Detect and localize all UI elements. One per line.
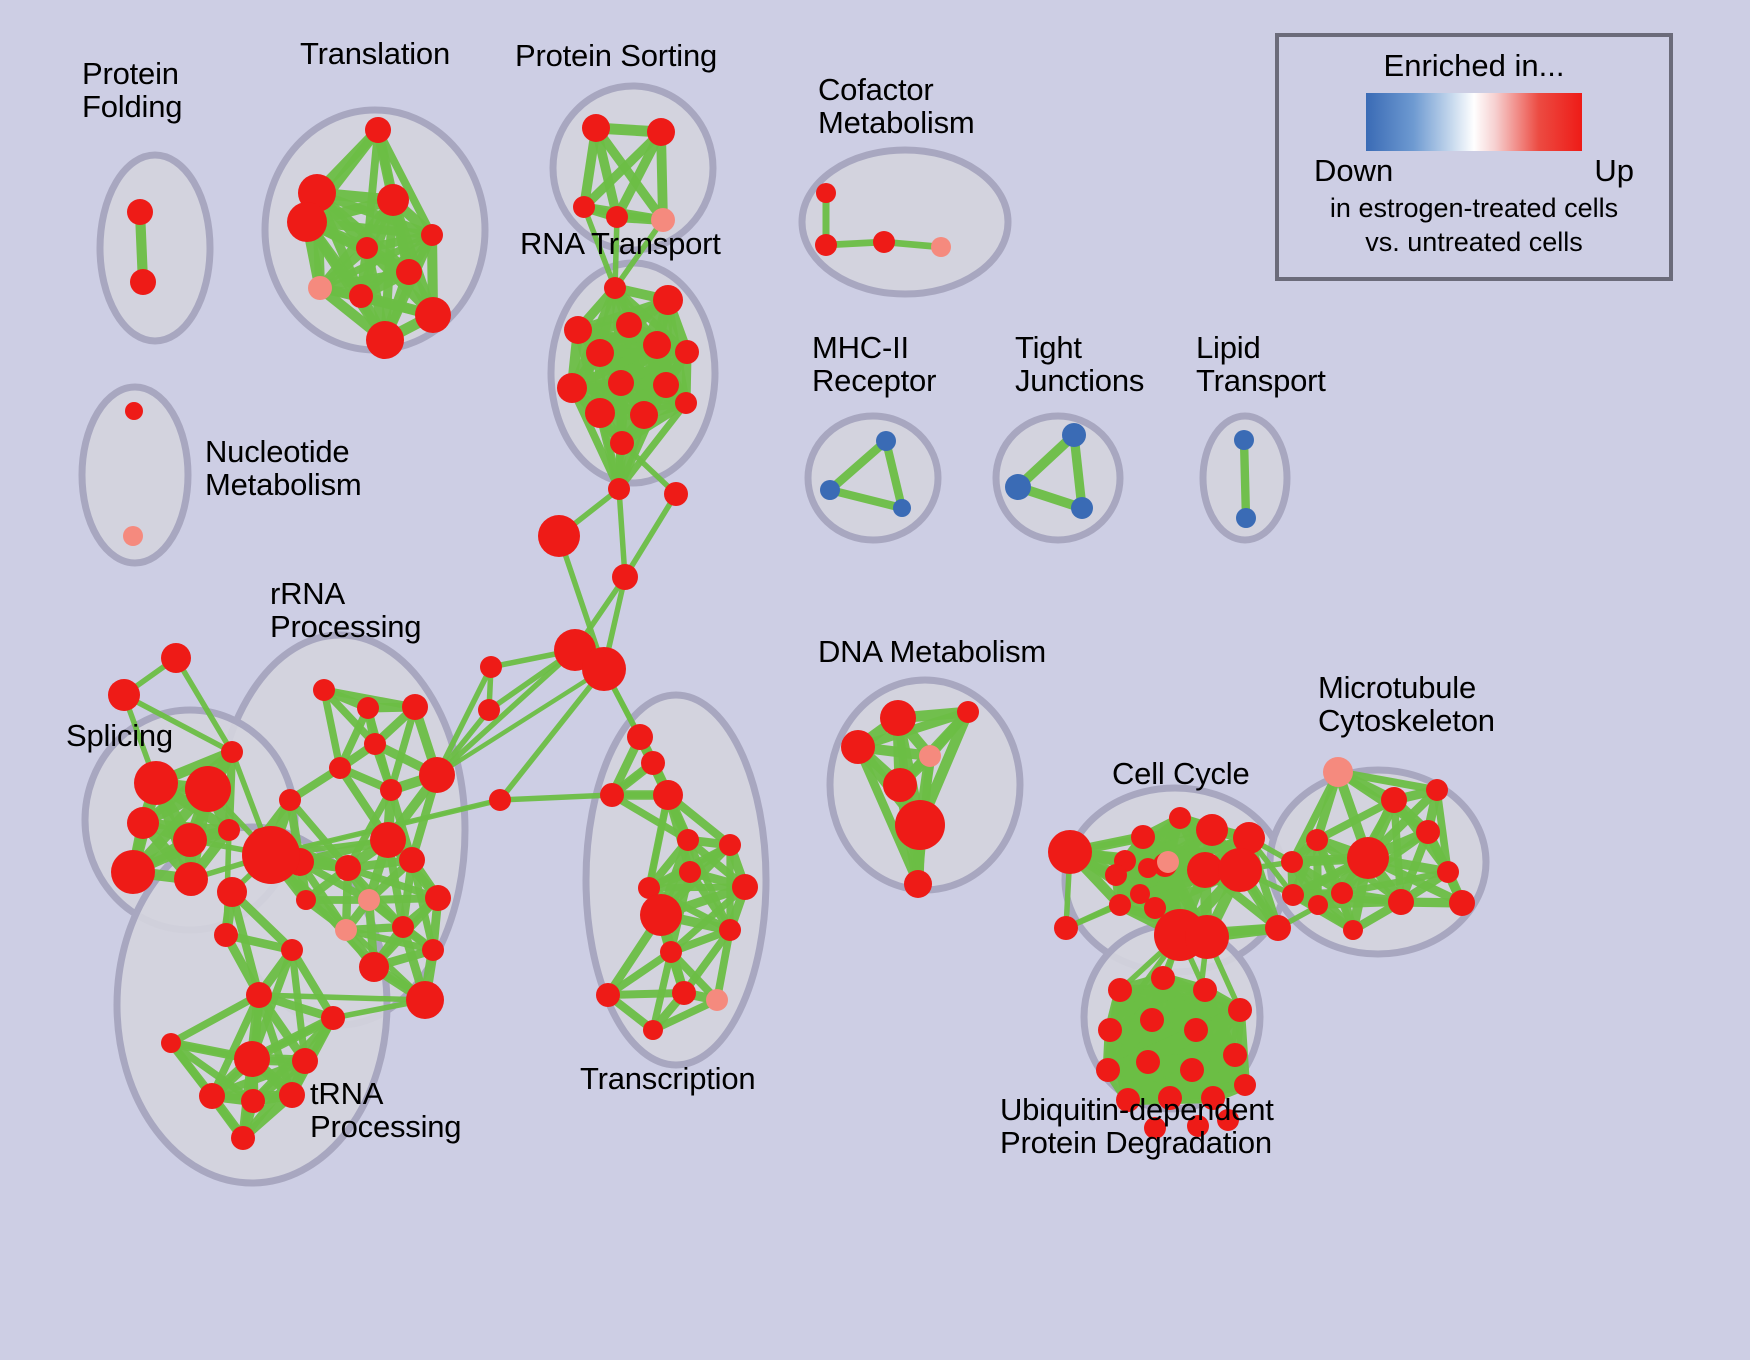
network-node[interactable] xyxy=(1071,497,1093,519)
network-node[interactable] xyxy=(214,923,238,947)
cluster-hull-protein-folding xyxy=(100,155,210,341)
network-node[interactable] xyxy=(246,982,272,1008)
network-node[interactable] xyxy=(279,1082,305,1108)
network-node[interactable] xyxy=(281,939,303,961)
network-node[interactable] xyxy=(356,237,378,259)
network-node[interactable] xyxy=(357,697,379,719)
network-node[interactable] xyxy=(1196,814,1228,846)
network-node[interactable] xyxy=(1234,430,1254,450)
network-node[interactable] xyxy=(125,402,143,420)
network-node[interactable] xyxy=(627,724,653,750)
cluster-hull-cofactor-metabolism xyxy=(802,150,1008,294)
network-node[interactable] xyxy=(329,757,351,779)
enrichment-map-figure: Protein FoldingTranslationProtein Sortin… xyxy=(0,0,1750,1360)
network-node[interactable] xyxy=(1218,848,1262,892)
network-node[interactable] xyxy=(895,800,945,850)
network-node[interactable] xyxy=(1223,1043,1247,1067)
network-node[interactable] xyxy=(904,870,932,898)
network-node[interactable] xyxy=(1306,829,1328,851)
legend-box: Enriched in... Down Up in estrogen-treat… xyxy=(1275,33,1673,281)
network-node[interactable] xyxy=(396,259,422,285)
network-node[interactable] xyxy=(218,819,240,841)
network-node[interactable] xyxy=(630,401,658,429)
network-node[interactable] xyxy=(931,237,951,257)
network-node[interactable] xyxy=(406,981,444,1019)
network-node[interactable] xyxy=(1151,966,1175,990)
network-node[interactable] xyxy=(557,373,587,403)
network-node[interactable] xyxy=(185,766,231,812)
network-node[interactable] xyxy=(816,183,836,203)
cluster-label-rrna-processing: rRNA Processing xyxy=(270,578,421,644)
network-node[interactable] xyxy=(1437,861,1459,883)
network-node[interactable] xyxy=(719,919,741,941)
network-node[interactable] xyxy=(402,694,428,720)
network-node[interactable] xyxy=(672,981,696,1005)
network-node[interactable] xyxy=(815,234,837,256)
network-node[interactable] xyxy=(608,478,630,500)
network-node[interactable] xyxy=(679,861,701,883)
network-node[interactable] xyxy=(425,885,451,911)
network-node[interactable] xyxy=(335,919,357,941)
network-node[interactable] xyxy=(1136,1050,1160,1074)
network-node[interactable] xyxy=(489,789,511,811)
network-node[interactable] xyxy=(127,199,153,225)
cluster-label-transcription: Transcription xyxy=(580,1063,755,1096)
network-node[interactable] xyxy=(1180,1058,1204,1082)
cluster-label-ubiquitin-protein-degradation: Ubiquitin-dependent Protein Degradation xyxy=(1000,1094,1274,1160)
network-node[interactable] xyxy=(480,656,502,678)
network-node[interactable] xyxy=(108,679,140,711)
network-node[interactable] xyxy=(647,118,675,146)
cluster-label-nucleotide-metabolism: Nucleotide Metabolism xyxy=(205,436,362,502)
network-node[interactable] xyxy=(1308,895,1328,915)
network-node[interactable] xyxy=(612,564,638,590)
network-node[interactable] xyxy=(564,316,592,344)
network-node[interactable] xyxy=(1062,423,1086,447)
network-node[interactable] xyxy=(957,701,979,723)
network-node[interactable] xyxy=(653,285,683,315)
network-node[interactable] xyxy=(610,431,634,455)
network-node[interactable] xyxy=(538,515,580,557)
network-node[interactable] xyxy=(1105,864,1127,886)
network-node[interactable] xyxy=(1343,920,1363,940)
network-node[interactable] xyxy=(1281,851,1303,873)
network-node[interactable] xyxy=(1131,825,1155,849)
network-node[interactable] xyxy=(1109,894,1131,916)
network-node[interactable] xyxy=(364,733,386,755)
cluster-label-mhc-ii-receptor: MHC-II Receptor xyxy=(812,332,936,398)
network-node[interactable] xyxy=(161,1033,181,1053)
network-node[interactable] xyxy=(608,370,634,396)
network-node[interactable] xyxy=(335,855,361,881)
cluster-label-microtubule-cytoskeleton: Microtubule Cytoskeleton xyxy=(1318,672,1495,738)
network-node[interactable] xyxy=(161,643,191,673)
network-node[interactable] xyxy=(296,890,316,910)
network-node[interactable] xyxy=(173,823,207,857)
legend-title: Enriched in... xyxy=(1279,48,1669,84)
cluster-label-protein-sorting: Protein Sorting xyxy=(515,40,717,73)
cluster-label-trna-processing: tRNA Processing xyxy=(310,1078,461,1144)
network-node[interactable] xyxy=(596,983,620,1007)
network-node[interactable] xyxy=(706,989,728,1011)
network-node[interactable] xyxy=(664,482,688,506)
network-node[interactable] xyxy=(1416,820,1440,844)
network-node[interactable] xyxy=(1138,858,1158,878)
network-node[interactable] xyxy=(127,807,159,839)
network-node[interactable] xyxy=(1193,978,1217,1002)
network-node[interactable] xyxy=(241,1089,265,1113)
network-node[interactable] xyxy=(1169,807,1191,829)
network-node[interactable] xyxy=(234,1041,270,1077)
network-node[interactable] xyxy=(585,398,615,428)
network-node[interactable] xyxy=(1426,779,1448,801)
network-node[interactable] xyxy=(478,699,500,721)
network-node[interactable] xyxy=(321,1006,345,1030)
network-node[interactable] xyxy=(199,1083,225,1109)
network-node[interactable] xyxy=(1282,884,1304,906)
network-node[interactable] xyxy=(675,340,699,364)
network-node[interactable] xyxy=(1140,1008,1164,1032)
network-node[interactable] xyxy=(883,768,917,802)
cluster-label-cofactor-metabolism: Cofactor Metabolism xyxy=(818,74,975,140)
legend-low-label: Down xyxy=(1314,153,1393,189)
cluster-label-tight-junctions: Tight Junctions xyxy=(1015,332,1144,398)
network-node[interactable] xyxy=(919,745,941,767)
network-edge xyxy=(1244,440,1246,518)
network-node[interactable] xyxy=(292,1048,318,1074)
network-node[interactable] xyxy=(370,822,406,858)
network-node[interactable] xyxy=(600,783,624,807)
network-node[interactable] xyxy=(380,779,402,801)
network-node[interactable] xyxy=(134,761,178,805)
network-node[interactable] xyxy=(1331,882,1353,904)
network-node[interactable] xyxy=(1048,830,1092,874)
network-node[interactable] xyxy=(719,834,741,856)
network-node[interactable] xyxy=(643,331,671,359)
network-node[interactable] xyxy=(1108,978,1132,1002)
network-node[interactable] xyxy=(820,480,840,500)
network-node[interactable] xyxy=(1323,757,1353,787)
network-node[interactable] xyxy=(1184,1018,1208,1042)
network-node[interactable] xyxy=(287,202,327,242)
network-node[interactable] xyxy=(660,941,682,963)
network-node[interactable] xyxy=(732,874,758,900)
network-edge xyxy=(625,494,676,577)
network-node[interactable] xyxy=(893,499,911,517)
network-edge xyxy=(437,650,575,775)
network-node[interactable] xyxy=(392,916,414,938)
network-node[interactable] xyxy=(377,184,409,216)
network-node[interactable] xyxy=(606,206,628,228)
network-node[interactable] xyxy=(1054,916,1078,940)
cluster-label-lipid-transport: Lipid Transport xyxy=(1196,332,1326,398)
network-node[interactable] xyxy=(1187,852,1223,888)
network-node[interactable] xyxy=(366,321,404,359)
network-node[interactable] xyxy=(582,114,610,142)
network-node[interactable] xyxy=(1236,508,1256,528)
network-node[interactable] xyxy=(279,789,301,811)
network-node[interactable] xyxy=(130,269,156,295)
network-node[interactable] xyxy=(653,780,683,810)
network-node[interactable] xyxy=(640,894,682,936)
network-node[interactable] xyxy=(358,889,380,911)
cluster-label-cell-cycle: Cell Cycle xyxy=(1112,758,1250,791)
network-edge xyxy=(619,489,625,577)
network-node[interactable] xyxy=(308,276,332,300)
cluster-label-translation: Translation xyxy=(300,38,450,71)
cluster-hull-mhc-ii-receptor xyxy=(808,416,938,540)
network-node[interactable] xyxy=(422,939,444,961)
network-node[interactable] xyxy=(399,847,425,873)
network-node[interactable] xyxy=(675,392,697,414)
network-node[interactable] xyxy=(1347,837,1389,879)
network-node[interactable] xyxy=(349,284,373,308)
legend-subtitle-line2: vs. untreated cells xyxy=(1279,227,1669,257)
cluster-label-rna-transport: RNA Transport xyxy=(520,228,721,261)
network-node[interactable] xyxy=(641,751,665,775)
network-node[interactable] xyxy=(217,877,247,907)
network-node[interactable] xyxy=(221,741,243,763)
network-node[interactable] xyxy=(111,850,155,894)
network-node[interactable] xyxy=(1388,889,1414,915)
legend-high-label: Up xyxy=(1594,153,1634,189)
network-node[interactable] xyxy=(876,431,896,451)
network-node[interactable] xyxy=(1096,1058,1120,1082)
network-node[interactable] xyxy=(242,826,300,884)
network-node[interactable] xyxy=(421,224,443,246)
network-node[interactable] xyxy=(586,339,614,367)
network-node[interactable] xyxy=(1098,1018,1122,1042)
network-node[interactable] xyxy=(1005,474,1031,500)
network-node[interactable] xyxy=(415,297,451,333)
network-node[interactable] xyxy=(653,372,679,398)
network-node[interactable] xyxy=(365,117,391,143)
network-node[interactable] xyxy=(841,730,875,764)
network-node[interactable] xyxy=(313,679,335,701)
network-node[interactable] xyxy=(231,1126,255,1150)
network-node[interactable] xyxy=(123,526,143,546)
network-node[interactable] xyxy=(880,700,916,736)
network-node[interactable] xyxy=(1228,998,1252,1022)
network-node[interactable] xyxy=(1157,851,1179,873)
network-node[interactable] xyxy=(643,1020,663,1040)
network-node[interactable] xyxy=(359,952,389,982)
network-node[interactable] xyxy=(573,196,595,218)
network-node[interactable] xyxy=(174,862,208,896)
network-node[interactable] xyxy=(1265,915,1291,941)
cluster-label-splicing: Splicing xyxy=(66,720,173,753)
cluster-label-dna-metabolism: DNA Metabolism xyxy=(818,636,1046,669)
legend-subtitle-line1: in estrogen-treated cells xyxy=(1279,193,1669,223)
legend-color-bar xyxy=(1366,93,1582,151)
network-node[interactable] xyxy=(1449,890,1475,916)
network-node[interactable] xyxy=(1185,915,1229,959)
network-node[interactable] xyxy=(1381,787,1407,813)
network-node[interactable] xyxy=(873,231,895,253)
network-node[interactable] xyxy=(677,829,699,851)
network-node[interactable] xyxy=(616,312,642,338)
network-node[interactable] xyxy=(604,277,626,299)
cluster-label-protein-folding: Protein Folding xyxy=(82,58,182,124)
network-node[interactable] xyxy=(582,647,626,691)
network-node[interactable] xyxy=(419,757,455,793)
